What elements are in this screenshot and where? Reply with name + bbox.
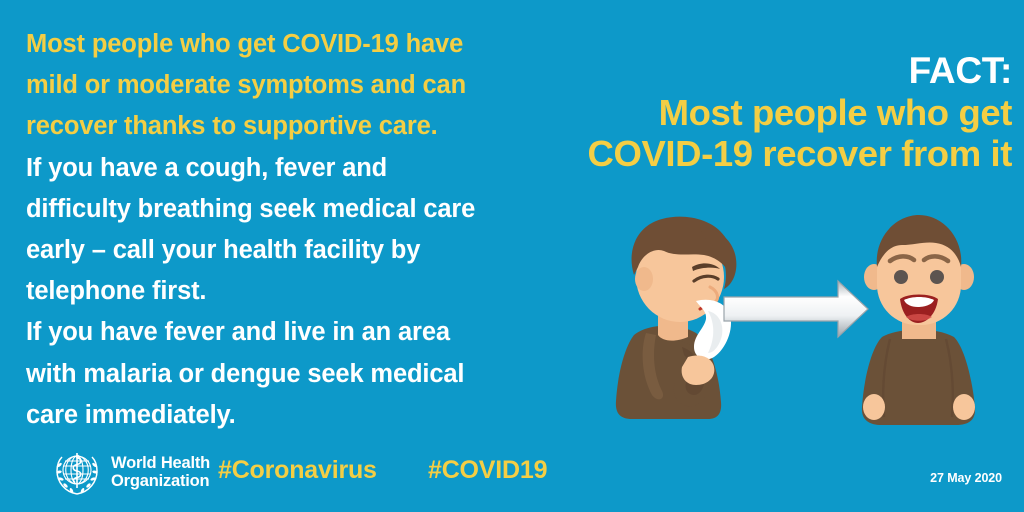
arrow-shape — [724, 281, 868, 337]
body-copy-line: mild or moderate symptoms and can — [26, 65, 556, 106]
who-wordmark: World Health Organization — [111, 454, 210, 491]
healthy-man-eye-left — [894, 270, 908, 284]
body-copy-line: early – call your health facility by — [26, 230, 556, 271]
who-wordmark-line-1: World Health — [111, 454, 210, 473]
headline-line-2: COVID-19 recover from it — [492, 133, 1012, 174]
body-copy-line: recover thanks to supportive care. — [26, 106, 556, 147]
healthy-man-figure — [862, 215, 975, 425]
body-copy-line: Most people who get COVID-19 have — [26, 24, 556, 65]
who-emblem-icon — [52, 447, 102, 497]
date-stamp: 27 May 2020 — [930, 471, 1002, 485]
body-copy-line: telephone first. — [26, 271, 556, 312]
headline-line-1: Most people who get — [492, 92, 1012, 133]
body-copy-line: with malaria or dengue seek medical — [26, 354, 556, 395]
body-copy-line: If you have a cough, fever and — [26, 148, 556, 189]
who-wordmark-line-2: Organization — [111, 472, 210, 491]
healthy-man-eye-right — [930, 270, 944, 284]
hashtag-covid19[interactable]: #COVID19 — [428, 456, 547, 485]
body-copy-line: care immediately. — [26, 395, 556, 436]
fact-label: FACT: — [492, 50, 1012, 92]
healthy-man-hand-right — [953, 394, 975, 420]
body-copy-line: difficulty breathing seek medical care — [26, 189, 556, 230]
sick-man-ear — [635, 267, 653, 291]
healthy-man-hand-left — [863, 394, 885, 420]
recovery-illustration — [596, 205, 1016, 430]
who-logo: World Health Organization — [52, 447, 210, 497]
body-copy-line: If you have fever and live in an area — [26, 312, 556, 353]
sick-man-figure — [616, 217, 737, 419]
who-fact-card: Most people who get COVID-19 have mild o… — [0, 0, 1024, 512]
recovery-arrow — [724, 281, 868, 337]
body-copy-block: Most people who get COVID-19 have mild o… — [26, 24, 556, 436]
headline-block: FACT: Most people who get COVID-19 recov… — [492, 50, 1012, 174]
hashtag-coronavirus[interactable]: #Coronavirus — [218, 456, 377, 485]
